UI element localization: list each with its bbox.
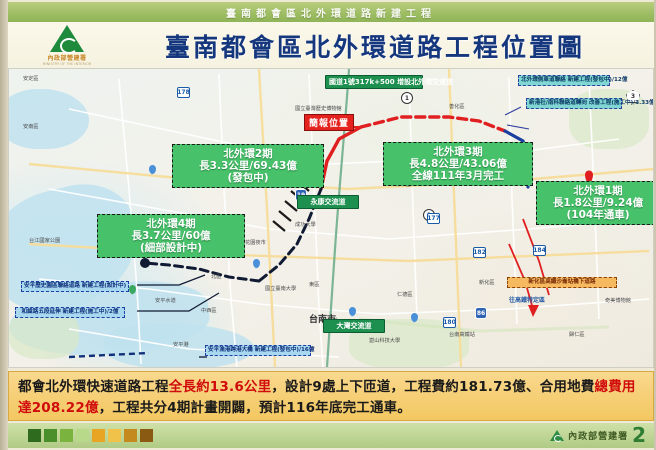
- footer-brand: 內政部營建署 2: [550, 425, 646, 445]
- callout-n1-line2: 增設北外環交流道: [397, 78, 453, 86]
- phase-1-name: 北外環1期: [542, 185, 654, 197]
- shield-county-182[interactable]: 182: [473, 247, 486, 258]
- map-label-dongqu: 東區: [309, 281, 319, 288]
- map-label-museum: 國立臺灣歷史博物館: [295, 105, 342, 112]
- shield-county-184[interactable]: 184: [533, 245, 546, 256]
- map-label-zhongxi: 中西區: [201, 307, 217, 314]
- summary-bar: 都會北外環快速道路工程全長約13.6公里，設計9處上下匝道，工程費約181.73…: [8, 371, 654, 421]
- top-banner: 臺南都會區北外環道路新建工程: [8, 2, 654, 22]
- callout-phase-1[interactable]: 北外環1期 長1.8公里/9.24億 (104年通車): [536, 181, 654, 225]
- agency-logo: 內政部營建署 MINISTRY OF THE INTERIOR: [36, 24, 98, 66]
- phase-3-status: 全線111年3月完工: [389, 170, 527, 182]
- map-label-cks-museum: 奇美博物館: [605, 297, 631, 304]
- callout-hewei-line2: 新建工程(施工中)/2億: [63, 309, 119, 315]
- summary-text-1: 都會北外環快速道路工程: [18, 379, 169, 395]
- callout-n1-interchange[interactable]: 國道1號317k+500 增設北外環交流道: [325, 75, 423, 89]
- slide-root: 臺南都會區北外環道路新建工程 內政部營建署 MINISTRY OF THE IN…: [0, 0, 656, 450]
- callout-anping-bridge[interactable]: 安平漁港跨港大橋 新建工程(發包中)/16億: [205, 345, 311, 356]
- callout-hewei-road[interactable]: 和緯路五段延伸 新建工程(施工中)/2億: [15, 307, 125, 318]
- route-phase-3: [361, 117, 505, 131]
- callout-yongkang-ic[interactable]: 永康交流道: [297, 195, 359, 209]
- leader-anping-park: [137, 275, 205, 285]
- route-phase-4: [145, 263, 259, 281]
- footer-swatch: [140, 429, 153, 442]
- logo-agency-subtitle: MINISTRY OF THE INTERIOR: [43, 62, 92, 66]
- phase-4-spec: 長3.7公里/60億: [103, 230, 239, 242]
- presentation-point-badge[interactable]: 簡報位置: [304, 114, 354, 131]
- callout-phase-2[interactable]: 北外環2期 長3.3公里/69.43億 (發包中): [172, 144, 324, 188]
- footer-swatch: [44, 429, 57, 442]
- phase-1-spec: 長1.8公里/9.24億: [542, 197, 654, 209]
- route-anping-bridge: [69, 353, 149, 357]
- map-label-kunshan: 崑山科技大學: [369, 337, 400, 344]
- callout-dawan-ic[interactable]: 大灣交流道: [323, 319, 385, 333]
- shield-county-180[interactable]: 180: [443, 317, 456, 328]
- map-label-beiqu: 北區: [211, 273, 221, 280]
- leader-side-road: [505, 107, 521, 115]
- callout-anping-park-line2: 新建工程(設計中): [82, 283, 126, 289]
- callout-hsr-bridge-line1: 新化區高鐵沙崙站橋下道路: [528, 279, 595, 285]
- footer-swatch: [76, 429, 89, 442]
- map-label-south-univ: 國立臺南大學: [265, 285, 296, 292]
- summary-highlight-length: 全長約13.6公里: [169, 379, 272, 395]
- footer-swatches: [28, 429, 153, 442]
- map-canvas[interactable]: 安定區 安南區 台江國家公園 安平區 安平水道 安平港 花園夜市 北區 中西區 …: [8, 68, 654, 368]
- shield-county-178[interactable]: 178: [177, 87, 190, 98]
- callout-anping-park-line1: 安平歷史園區聯絡道路: [24, 283, 80, 289]
- map-label-annan: 安南區: [23, 123, 39, 130]
- callout-xingangshe-line2: 改善工程(施工中)/3.33億: [589, 100, 654, 106]
- callout-hsr-bridge[interactable]: 新化區高鐵沙崙站橋下道路: [507, 277, 617, 288]
- phase-2-status: (發包中): [178, 172, 318, 184]
- footer-swatch: [108, 429, 121, 442]
- map-label-anding: 安定區: [23, 75, 39, 82]
- callout-phase-3[interactable]: 北外環3期 長4.8公里/43.06億 全線111年3月完工: [383, 142, 533, 186]
- phase-3-name: 北外環3期: [389, 146, 527, 158]
- map-label-hsr-station: 台南高鐵站: [449, 331, 475, 338]
- footer-swatch: [28, 429, 41, 442]
- phase-3-spec: 長4.8公里/43.06億: [389, 158, 527, 170]
- logo-triangle-icon: [50, 25, 84, 52]
- footer-logo-triangle-icon: [550, 430, 564, 441]
- route-phase-3b: [321, 127, 361, 189]
- shield-freeway-n1[interactable]: 1: [401, 92, 413, 104]
- map-label-rende: 仁德區: [397, 291, 413, 298]
- map-label-taijiang: 台江國家公園: [29, 237, 60, 244]
- phase-1-status: (104年通車): [542, 209, 654, 221]
- callout-xingangshe[interactable]: 新港社/南科聯絡道轉向 改善工程(施工中)/3.33億: [526, 98, 622, 109]
- logo-agency-name: 內政部營建署: [47, 53, 86, 62]
- footer-bar: 內政部營建署 2: [8, 423, 654, 448]
- footer-swatch: [92, 429, 105, 442]
- callout-side-road[interactable]: 北外環側車道聯絡 新建工程(發包中)/12億: [518, 75, 610, 86]
- footer-swatch: [60, 429, 73, 442]
- callout-side-road-line2: 新建工程(發包中)/12億: [568, 77, 628, 83]
- callout-side-road-line1: 北外環側車道聯絡: [521, 77, 566, 83]
- page-number: 2: [632, 425, 646, 445]
- map-label-shanhua: 善化區: [449, 103, 465, 110]
- phase-4-name: 北外環4期: [103, 218, 239, 230]
- route-node-phase4-end: [140, 258, 150, 268]
- footer-agency-name: 內政部營建署: [568, 429, 628, 442]
- summary-text-4: ，工程共分4期計畫開闢，預計116年底完工通車。: [99, 400, 411, 416]
- label-to-hsr: 往高鐵特定區: [509, 295, 545, 304]
- callout-xingangshe-line1: 新港社/南科聯絡道轉向: [529, 100, 587, 106]
- footer-swatch: [124, 429, 137, 442]
- callout-n1-line1: 國道1號317k+500: [329, 78, 395, 86]
- page-title: 臺南都會區北外環道路工程位置圖: [110, 24, 640, 68]
- callout-hewei-line1: 和緯路五段延伸: [22, 309, 61, 315]
- shield-county-177[interactable]: 177: [427, 213, 440, 224]
- map-label-anping-water: 安平水道: [155, 297, 176, 304]
- callout-anping-park[interactable]: 安平歷史園區聯絡道路 新建工程(設計中): [21, 281, 129, 292]
- summary-text-2: ，設計9處上下匝道，工程費約181.73億、: [271, 379, 539, 395]
- slide-left-edge: [0, 0, 8, 450]
- callout-phase-4[interactable]: 北外環4期 長3.7公里/60億 (細部設計中): [97, 214, 245, 258]
- top-banner-text: 臺南都會區北外環道路新建工程: [226, 5, 436, 20]
- phase-4-status: (細部設計中): [103, 242, 239, 254]
- callout-anping-bridge-line2: 新建工程(發包中)/16億: [255, 347, 315, 353]
- map-label-guiren: 歸仁區: [569, 331, 585, 338]
- map-label-chengda: 成功大學: [295, 221, 316, 228]
- phase-2-name: 北外環2期: [178, 148, 318, 160]
- map-label-anping-port: 安平港: [173, 341, 189, 348]
- map-label-huayuan: 花園夜市: [245, 239, 266, 246]
- phase-2-spec: 長3.3公里/69.43億: [178, 160, 318, 172]
- shield-freeway-86[interactable]: 86: [475, 307, 487, 319]
- leader-xingangshe: [507, 125, 529, 129]
- map-label-xinhua: 新化區: [479, 279, 495, 286]
- callout-anping-bridge-line1: 安平漁港跨港大橋: [208, 347, 253, 353]
- summary-text-3: 合用地費: [540, 379, 595, 395]
